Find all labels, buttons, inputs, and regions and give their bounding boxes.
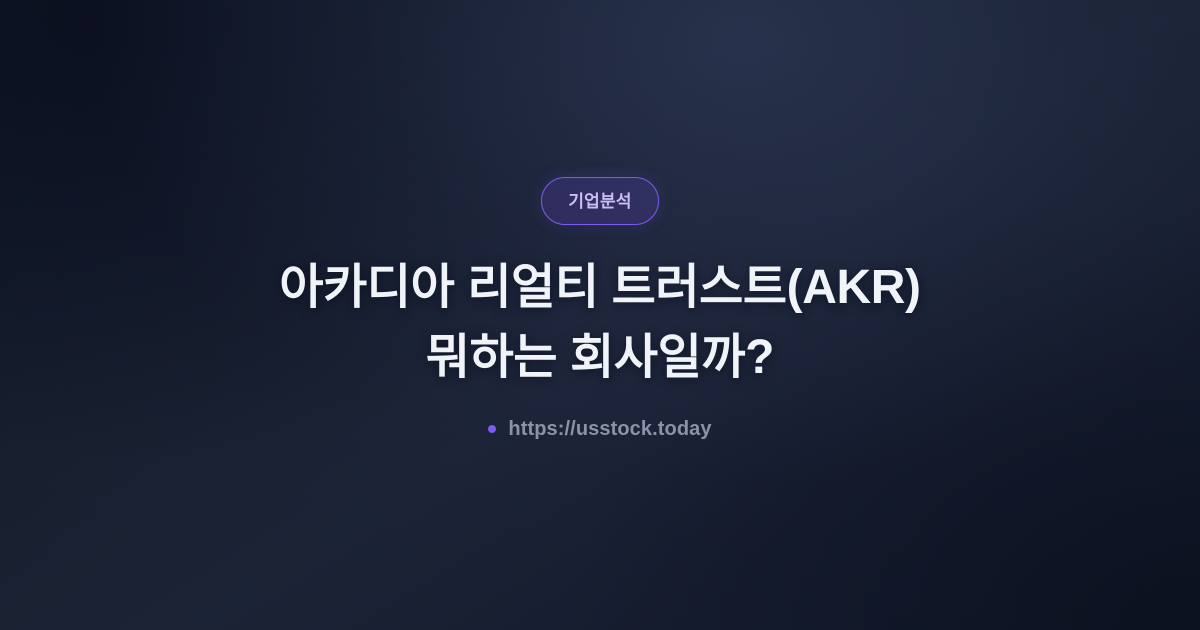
og-share-card: 기업분석 아카디아 리얼티 트러스트(AKR) 뭐하는 회사일까? https:…: [0, 0, 1200, 630]
bullet-dot-icon: [488, 425, 496, 433]
category-badge: 기업분석: [541, 177, 658, 225]
site-url-row: https://usstock.today: [488, 419, 711, 439]
page-title: 아카디아 리얼티 트러스트(AKR) 뭐하는 회사일까?: [279, 253, 920, 393]
page-title-line-2: 뭐하는 회사일까?: [279, 323, 920, 393]
category-badge-label: 기업분석: [568, 193, 631, 210]
card-content: 기업분석 아카디아 리얼티 트러스트(AKR) 뭐하는 회사일까? https:…: [0, 177, 1200, 453]
page-title-line-1: 아카디아 리얼티 트러스트(AKR): [279, 253, 920, 323]
site-url-label: https://usstock.today: [508, 419, 711, 439]
